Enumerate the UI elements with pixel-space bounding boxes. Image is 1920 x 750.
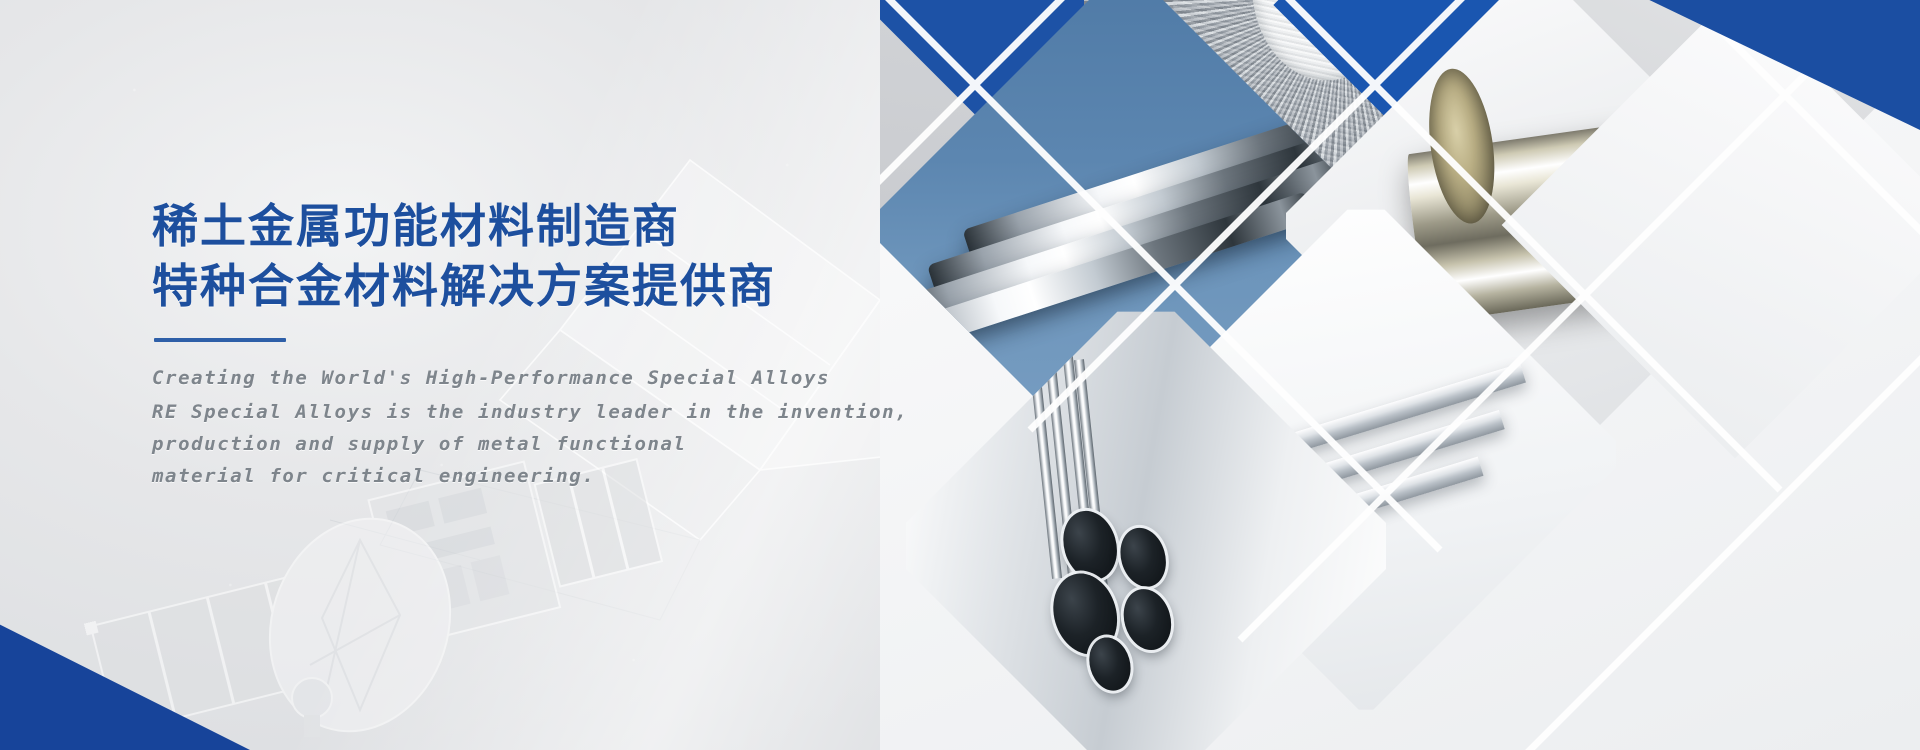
product-photo-collage (880, 0, 1920, 750)
description-line-3: material for critical engineering. (152, 460, 912, 492)
tagline: Creating the World's High-Performance Sp… (152, 362, 912, 394)
headline-line-1: 稀土金属功能材料制造商 (152, 196, 912, 256)
description-line-2: production and supply of metal functiona… (152, 428, 912, 460)
headline-line-2: 特种合金材料解决方案提供商 (152, 256, 912, 316)
hero-text-block: 稀土金属功能材料制造商 特种合金材料解决方案提供商 Creating the W… (152, 196, 912, 492)
hero-banner: 稀土金属功能材料制造商 特种合金材料解决方案提供商 Creating the W… (0, 0, 1920, 750)
headline-divider (154, 338, 286, 342)
collage-seams (880, 0, 1920, 750)
description-line-1: RE Special Alloys is the industry leader… (152, 396, 912, 428)
